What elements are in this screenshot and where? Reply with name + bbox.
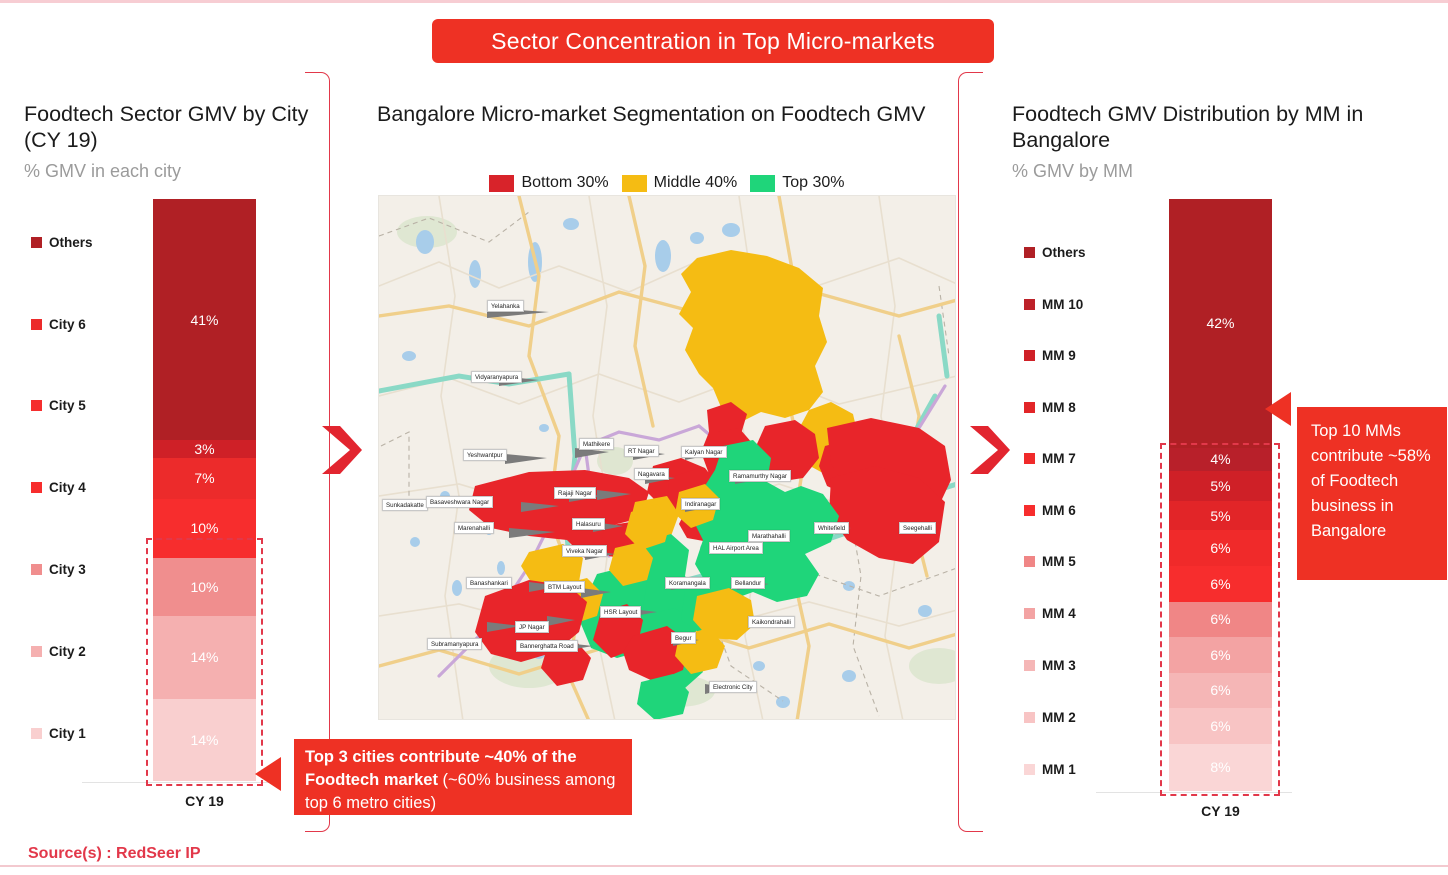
legend-swatch-icon: [1024, 299, 1035, 310]
map-label-basaveshwara-nagar[interactable]: Basaveshwara Nagar: [426, 496, 493, 508]
bottom-rule: [0, 865, 1448, 867]
map-label-kalyan-nagar[interactable]: Kalyan Nagar: [681, 446, 727, 458]
map-label-mathikere[interactable]: Mathikere: [579, 438, 614, 450]
map-label-seegehalli[interactable]: Seegehalli: [899, 522, 936, 534]
center-panel-title: Bangalore Micro-market Segmentation on F…: [377, 101, 937, 127]
map-label-jp-nagar[interactable]: JP Nagar: [515, 621, 549, 633]
map-label-yelahanka[interactable]: Yelahanka: [487, 300, 524, 312]
legend-item-mm-6: MM 6: [1024, 503, 1076, 518]
legend-swatch-icon: [1024, 350, 1035, 361]
legend-swatch-icon: [31, 319, 42, 330]
map-label-banashankari[interactable]: Banashankari: [466, 577, 512, 589]
map-label-btm-layout[interactable]: BTM Layout: [544, 581, 585, 593]
bar-segment-others: 41%: [153, 199, 256, 440]
legend-label: MM 5: [1042, 554, 1076, 569]
bar-segment-city-6: 3%: [153, 440, 256, 458]
map-label-yeshwantpur[interactable]: Yeshwantpur: [463, 449, 507, 461]
right-x-axis-label: CY 19: [1169, 803, 1272, 819]
legend-label: City 2: [49, 644, 86, 659]
map-label-viveka-nagar[interactable]: Viveka Nagar: [562, 545, 607, 557]
right-panel-title: Foodtech GMV Distribution by MM in Banga…: [1012, 101, 1422, 153]
map-label-vidyaranyapura[interactable]: Vidyaranyapura: [471, 371, 522, 383]
right-panel-subtitle: % GMV by MM: [1012, 161, 1133, 182]
map-label-nagavara[interactable]: Nagavara: [634, 468, 669, 480]
map-label-hal-airport-area[interactable]: HAL Airport Area: [709, 542, 763, 554]
right-highlight-box: [1160, 443, 1280, 796]
legend-label: City 6: [49, 317, 86, 332]
map-legend-label: Top 30%: [782, 174, 844, 192]
right-callout-arrow-icon: [1265, 392, 1291, 426]
map-label-halasuru[interactable]: Halasuru: [572, 518, 605, 530]
legend-label: MM 7: [1042, 451, 1076, 466]
map-label-rajaji-nagar[interactable]: Rajaji Nagar: [554, 487, 596, 499]
legend-item-mm-3: MM 3: [1024, 658, 1076, 673]
legend-label: MM 4: [1042, 606, 1076, 621]
left-panel-subtitle: % GMV in each city: [24, 161, 181, 182]
map-label-begur[interactable]: Begur: [671, 632, 696, 644]
flow-arrow-right-icon: [968, 422, 1012, 478]
legend-label: MM 6: [1042, 503, 1076, 518]
legend-swatch-icon: [1024, 764, 1035, 775]
map-legend-label: Middle 40%: [654, 174, 738, 192]
legend-item-city-2: City 2: [31, 644, 86, 659]
bar-segment-others: 42%: [1169, 199, 1272, 448]
map-label-rt-nagar[interactable]: RT Nagar: [624, 445, 659, 457]
left-x-axis-label: CY 19: [153, 793, 256, 809]
legend-swatch-icon: [31, 728, 42, 739]
map-legend-item-bottom-30-: Bottom 30%: [489, 174, 608, 192]
map-label-electronic-city[interactable]: Electronic City: [709, 681, 757, 693]
legend-label: MM 1: [1042, 762, 1076, 777]
legend-item-mm-7: MM 7: [1024, 451, 1076, 466]
legend-item-city-3: City 3: [31, 562, 86, 577]
map-legend-item-middle-40-: Middle 40%: [622, 174, 738, 192]
legend-swatch-icon: [31, 564, 42, 575]
legend-item-mm-2: MM 2: [1024, 710, 1076, 725]
legend-swatch-icon: [1024, 247, 1035, 258]
legend-swatch-icon: [1024, 608, 1035, 619]
legend-item-mm-10: MM 10: [1024, 297, 1083, 312]
legend-item-city-4: City 4: [31, 480, 86, 495]
map-legend-label: Bottom 30%: [521, 174, 608, 192]
map-label-subramanyapura[interactable]: Subramanyapura: [427, 638, 482, 650]
map-legend-item-top-30-: Top 30%: [750, 174, 844, 192]
legend-label: MM 8: [1042, 400, 1076, 415]
legend-swatch-icon: [31, 237, 42, 248]
map-label-marenahalli[interactable]: Marenahalli: [454, 522, 494, 534]
left-panel-title: Foodtech Sector GMV by City (CY 19): [24, 101, 309, 153]
legend-label: City 4: [49, 480, 86, 495]
legend-label: City 1: [49, 726, 86, 741]
legend-label: MM 10: [1042, 297, 1083, 312]
map-label-marathahalli[interactable]: Marathahalli: [748, 530, 790, 542]
left-callout: Top 3 cities contribute ~40% of the Food…: [294, 739, 632, 815]
map-label-bellandur[interactable]: Bellandur: [731, 577, 765, 589]
map-legend-swatch-icon: [622, 175, 647, 192]
page-title-banner: Sector Concentration in Top Micro-market…: [432, 19, 994, 63]
right-callout-text: Top 10 MMs contribute ~58% of Foodtech b…: [1311, 422, 1431, 540]
legend-swatch-icon: [31, 646, 42, 657]
legend-item-others: Others: [31, 235, 93, 250]
legend-label: MM 3: [1042, 658, 1076, 673]
legend-item-others: Others: [1024, 245, 1086, 260]
left-highlight-box: [146, 538, 263, 786]
legend-label: Others: [1042, 245, 1086, 260]
map-label-koramangala[interactable]: Koramangala: [665, 577, 710, 589]
map-label-sunkadakatte[interactable]: Sunkadakatte: [382, 499, 428, 511]
legend-swatch-icon: [1024, 660, 1035, 671]
bar-segment-city-5: 7%: [153, 458, 256, 499]
legend-swatch-icon: [1024, 402, 1035, 413]
right-callout: Top 10 MMs contribute ~58% of Foodtech b…: [1297, 407, 1447, 580]
legend-item-mm-4: MM 4: [1024, 606, 1076, 621]
legend-item-mm-1: MM 1: [1024, 762, 1076, 777]
map-legend-swatch-icon: [750, 175, 775, 192]
page-title: Sector Concentration in Top Micro-market…: [491, 28, 935, 55]
bangalore-map[interactable]: YelahankaVidyaranyapuraYeshwantpurSunkad…: [378, 195, 956, 720]
source-note: Source(s) : RedSeer IP: [28, 845, 201, 863]
legend-label: Others: [49, 235, 93, 250]
legend-label: City 5: [49, 398, 86, 413]
legend-item-city-1: City 1: [31, 726, 86, 741]
flow-arrow-left-icon: [320, 422, 364, 478]
legend-item-city-5: City 5: [31, 398, 86, 413]
legend-item-mm-5: MM 5: [1024, 554, 1076, 569]
map-legend-swatch-icon: [489, 175, 514, 192]
top-rule: [0, 0, 1448, 3]
legend-label: MM 2: [1042, 710, 1076, 725]
legend-item-mm-8: MM 8: [1024, 400, 1076, 415]
map-label-kaikondrahalli[interactable]: Kaikondrahalli: [748, 616, 795, 628]
legend-label: City 3: [49, 562, 86, 577]
map-label-whitefield[interactable]: Whitefield: [814, 522, 849, 534]
map-label-ramamurthy-nagar[interactable]: Ramamurthy Nagar: [729, 470, 791, 482]
legend-swatch-icon: [1024, 453, 1035, 464]
legend-swatch-icon: [1024, 712, 1035, 723]
legend-swatch-icon: [1024, 556, 1035, 567]
map-label-indiranagar[interactable]: Indiranagar: [681, 498, 720, 510]
legend-label: MM 9: [1042, 348, 1076, 363]
left-callout-arrow-icon: [255, 757, 281, 791]
map-label-hsr-layout[interactable]: HSR Layout: [600, 606, 641, 618]
legend-item-mm-9: MM 9: [1024, 348, 1076, 363]
legend-swatch-icon: [1024, 505, 1035, 516]
map-legend: Bottom 30%Middle 40%Top 30%: [378, 172, 956, 194]
map-label-bannerghatta-road[interactable]: Bannerghatta Road: [516, 640, 578, 652]
legend-item-city-6: City 6: [31, 317, 86, 332]
legend-swatch-icon: [31, 482, 42, 493]
legend-swatch-icon: [31, 400, 42, 411]
